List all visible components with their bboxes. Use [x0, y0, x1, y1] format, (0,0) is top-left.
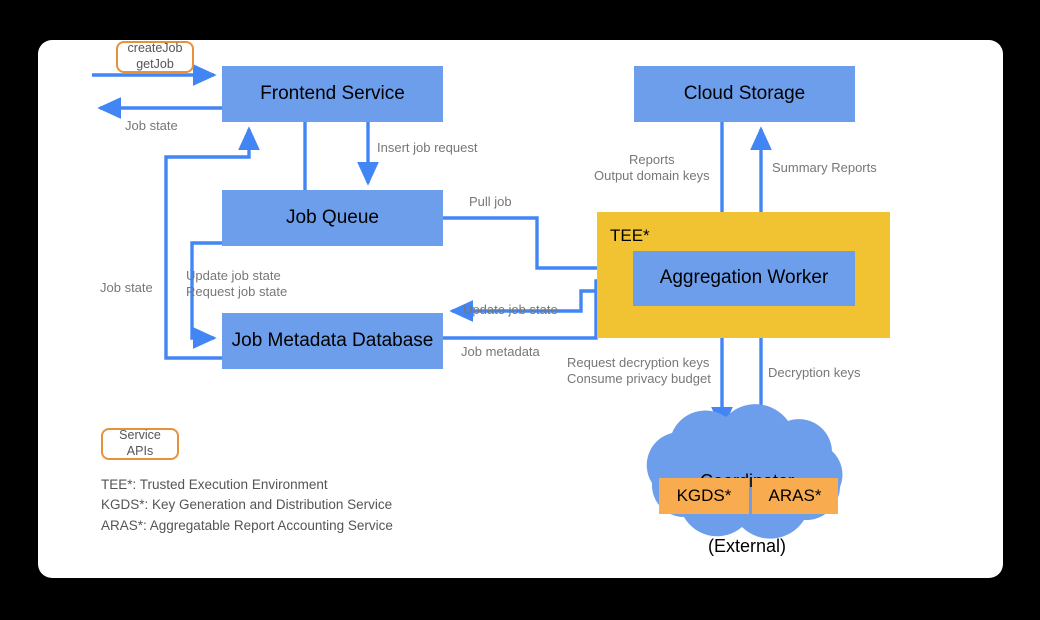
- legend-abbreviations: TEE*: Trusted Execution Environment KGDS…: [101, 475, 393, 536]
- legend-chip-line2: APIs: [127, 444, 153, 460]
- edge-label-reports-output-domain-keys: Reports Output domain keys: [594, 152, 710, 185]
- edge-label-summary-reports: Summary Reports: [772, 160, 877, 176]
- node-label: Job Queue: [286, 207, 379, 229]
- api-chip-line2: getJob: [136, 57, 174, 73]
- node-label: ARAS*: [769, 486, 822, 506]
- node-aras[interactable]: ARAS*: [752, 478, 838, 514]
- diagram-stage: Frontend Service Job Queue Job Metadata …: [0, 0, 1040, 620]
- edge-label-decryption-keys: Decryption keys: [768, 365, 860, 381]
- api-chip-create-get-job: createJob getJob: [116, 41, 194, 73]
- node-kgds[interactable]: KGDS*: [659, 478, 749, 514]
- edge-label-job-state-out: Job state: [125, 118, 178, 134]
- edge-label-pull-job: Pull job: [469, 194, 512, 210]
- node-frontend-service[interactable]: Frontend Service: [222, 66, 443, 122]
- node-label: Aggregation Worker: [660, 267, 829, 289]
- edge-label-job-state-left: Job state: [100, 280, 153, 296]
- node-label: Frontend Service: [260, 83, 405, 105]
- node-label: KGDS*: [677, 486, 732, 506]
- edge-label-job-metadata: Job metadata: [461, 344, 540, 360]
- legend-chip-line1: Service: [119, 428, 161, 444]
- coordinator-title-line2: (External): [647, 536, 847, 558]
- node-aggregation-worker[interactable]: Aggregation Worker: [633, 251, 855, 306]
- edge-label-insert-job-request: Insert job request: [377, 140, 477, 156]
- edge-label-update-job-state-worker: Update job state: [463, 302, 558, 318]
- node-label: Job Metadata Database: [232, 330, 434, 352]
- coordinator-title: Coordinator (External): [647, 428, 847, 601]
- tee-label: TEE*: [610, 226, 650, 246]
- node-label: Cloud Storage: [684, 83, 805, 105]
- node-job-metadata-database[interactable]: Job Metadata Database: [222, 313, 443, 369]
- node-job-queue[interactable]: Job Queue: [222, 190, 443, 246]
- legend-chip-service-apis: Service APIs: [101, 428, 179, 460]
- edge-label-request-decryption-keys: Request decryption keys Consume privacy …: [567, 355, 711, 388]
- node-cloud-storage[interactable]: Cloud Storage: [634, 66, 855, 122]
- api-chip-line1: createJob: [128, 41, 183, 57]
- edge-label-update-request-job-state: Update job state Request job state: [186, 268, 287, 301]
